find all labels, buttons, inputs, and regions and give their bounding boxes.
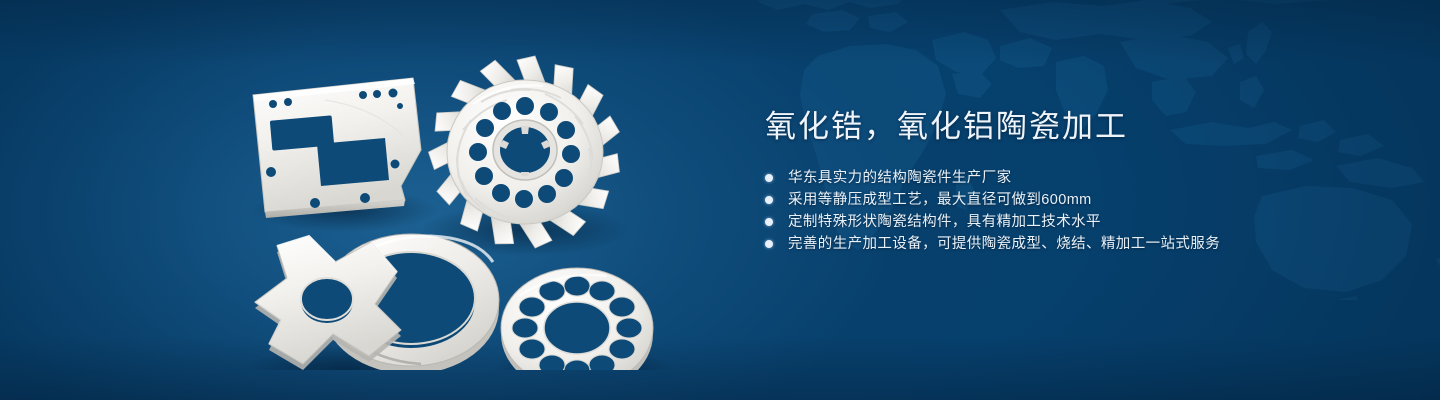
list-item: 采用等静压成型工艺，最大直径可做到600mm [765, 189, 1365, 211]
feature-list: 华东具实力的结构陶瓷件生产厂家 采用等静压成型工艺，最大直径可做到600mm 定… [765, 167, 1365, 255]
feature-text: 采用等静压成型工艺，最大直径可做到600mm [788, 192, 1092, 208]
feature-text: 定制特殊形状陶瓷结构件，具有精加工技术水平 [788, 214, 1101, 230]
list-item: 华东具实力的结构陶瓷件生产厂家 [765, 167, 1365, 189]
bullet-dot-icon [765, 174, 773, 182]
bullet-dot-icon [765, 240, 773, 248]
bullet-dot-icon [765, 196, 773, 204]
list-item: 定制特殊形状陶瓷结构件，具有精加工技术水平 [765, 211, 1365, 233]
list-item: 完善的生产加工设备，可提供陶瓷成型、烧结、精加工一站式服务 [765, 233, 1365, 255]
page-title: 氧化锆，氧化铝陶瓷加工 [765, 108, 1365, 147]
ceramic-machined-plate [253, 78, 421, 218]
ceramic-products-image [225, 40, 705, 370]
ceramic-perforated-disc [501, 268, 653, 370]
feature-text: 华东具实力的结构陶瓷件生产厂家 [788, 170, 1012, 186]
feature-text: 完善的生产加工设备，可提供陶瓷成型、烧结、精加工一站式服务 [788, 236, 1220, 252]
bullet-dot-icon [765, 218, 773, 226]
hero-banner: 氧化锆，氧化铝陶瓷加工 华东具实力的结构陶瓷件生产厂家 采用等静压成型工艺，最大… [0, 0, 1440, 400]
banner-text-column: 氧化锆，氧化铝陶瓷加工 华东具实力的结构陶瓷件生产厂家 采用等静压成型工艺，最大… [765, 108, 1365, 255]
